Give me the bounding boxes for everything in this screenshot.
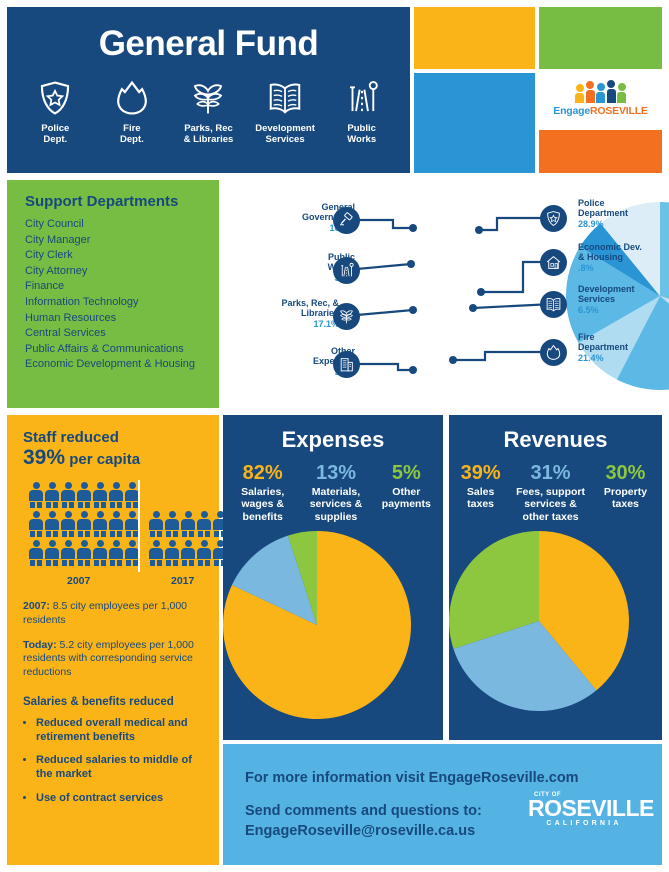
expenses-panel: Expenses 82%Salaries,wages &benefits13%M… — [223, 415, 443, 740]
police-badge-icon — [18, 77, 92, 117]
support-dept-item: Human Resources — [25, 311, 205, 327]
person-icon — [109, 482, 123, 508]
staff-reduction-panel: Staff reduced 39% per capita 2007 2017 2… — [7, 415, 219, 865]
legend-percent: 13% — [298, 463, 373, 484]
callout-percent: 28.9% — [578, 219, 628, 229]
header-band: General Fund PoliceDept.FireDept.Parks, … — [7, 7, 410, 173]
department-icon-row: PoliceDept.FireDept.Parks, Rec& Librarie… — [7, 77, 410, 146]
general-fund-pie-section: GeneralGovernment10.9%PublicWorks5.3%Par… — [223, 180, 662, 408]
panel-divider — [445, 415, 447, 740]
callout-line: Services — [578, 294, 635, 304]
person-icon — [61, 482, 75, 508]
staff-note-today: Today: 5.2 city employees per 1,000 resi… — [23, 639, 205, 680]
support-dept-item: Information Technology — [25, 295, 205, 311]
header-dept-5: PublicWorks — [325, 77, 399, 146]
legend-percent: 39% — [455, 463, 506, 484]
support-departments-panel: Support Departments City CouncilCity Man… — [7, 180, 219, 408]
person-icon — [93, 540, 107, 566]
expenses-title: Expenses — [223, 427, 443, 453]
callout-percent: .8% — [578, 263, 642, 273]
salaries-benefits-bullets: Reduced overall medical and retirement b… — [23, 716, 205, 805]
infographic-page: General Fund PoliceDept.FireDept.Parks, … — [0, 0, 669, 872]
callout-line: Fire — [578, 332, 628, 342]
open-book-icon — [248, 77, 322, 117]
person-icon — [125, 511, 139, 537]
person-icon — [45, 482, 59, 508]
revenues-panel: Revenues 39%Salestaxes31%Fees, supportse… — [449, 415, 662, 740]
legend-key: 31%Fees, supportservices &other taxes — [508, 463, 593, 523]
pie-callout-economic-dev-housing: Economic Dev.& Housing.8% — [578, 242, 642, 273]
swatch-green — [539, 7, 662, 69]
support-departments-heading: Support Departments — [25, 193, 205, 210]
support-dept-item: Finance — [25, 279, 205, 295]
revenues-legend: 39%Salestaxes31%Fees, supportservices &o… — [449, 463, 662, 523]
callout-line: Parks, Rec, & — [243, 298, 339, 308]
person-icon — [125, 540, 139, 566]
callout-dot — [407, 260, 415, 268]
flame-icon — [540, 339, 567, 366]
open-book-icon — [540, 291, 567, 318]
callout-percent: 6.5% — [578, 305, 635, 315]
staff-heading-line1: Staff reduced — [23, 429, 119, 446]
legend-label: Salestaxes — [455, 486, 506, 511]
legend-label: Otherpayments — [376, 486, 437, 511]
building-icon — [333, 351, 360, 378]
police-badge-icon — [540, 205, 567, 232]
swatch-blue — [414, 73, 535, 173]
person-icon — [181, 540, 195, 566]
staff-note-2007: 2007: 8.5 city employees per 1,000 resid… — [23, 600, 205, 627]
pie-callout-development-services: DevelopmentServices6.5% — [578, 284, 635, 315]
legend-label: Fees, supportservices &other taxes — [508, 486, 593, 523]
person-icon — [197, 511, 211, 537]
engage-roseville-logo: EngageROSEVILLE — [539, 73, 662, 126]
person-icon — [77, 511, 91, 537]
staff-note-2007-label: 2007: — [23, 600, 50, 612]
person-icon — [165, 540, 179, 566]
swatch-orange — [539, 130, 662, 173]
year-label-2017: 2017 — [171, 575, 194, 587]
support-dept-item: Central Services — [25, 326, 205, 342]
expenses-pie-chart — [223, 531, 411, 719]
revenues-title: Revenues — [449, 427, 662, 453]
people-group-icon — [575, 83, 626, 103]
legend-percent: 30% — [595, 463, 656, 484]
legend-key: 39%Salestaxes — [455, 463, 506, 523]
person-icon — [61, 511, 75, 537]
leaf-icon — [333, 303, 360, 330]
staff-bullet: Reduced salaries to middle of the market — [36, 753, 205, 782]
callout-percent: 21.4% — [578, 353, 628, 363]
legend-key: 5%Otherpayments — [376, 463, 437, 523]
staff-bullet: Use of contract services — [36, 791, 205, 805]
callout-line: Economic Dev. — [578, 242, 642, 252]
staff-heading-tail: per capita — [65, 451, 140, 468]
callout-dot — [477, 288, 485, 296]
person-icon — [29, 511, 43, 537]
person-icon — [149, 540, 163, 566]
person-icon — [77, 482, 91, 508]
pictogram-row — [29, 511, 139, 537]
pie-callout-parks-rec-libraries: Parks, Rec, &Libraries17.1% — [243, 298, 339, 329]
header-dept-label: PublicWorks — [325, 124, 399, 146]
swatch-yellow — [414, 7, 535, 69]
callout-line: & Housing — [578, 252, 642, 262]
callout-dot — [469, 304, 477, 312]
legend-label: Materials,services &supplies — [298, 486, 373, 523]
header-dept-2: FireDept. — [95, 77, 169, 146]
support-dept-item: Public Affairs & Communications — [25, 342, 205, 358]
header-dept-3: Parks, Rec& Libraries — [171, 77, 245, 146]
page-title: General Fund — [7, 24, 410, 64]
pie-callout-fire-department: FireDepartment21.4% — [578, 332, 628, 363]
support-dept-item: City Manager — [25, 233, 205, 249]
support-dept-item: City Council — [25, 217, 205, 233]
person-icon — [45, 540, 59, 566]
callout-percent: 17.1% — [243, 319, 339, 329]
legend-key: 82%Salaries,wages &benefits — [229, 463, 296, 523]
callout-dot — [475, 226, 483, 234]
staff-bullet: Reduced overall medical and retirement b… — [36, 716, 205, 745]
road-streetlight-icon — [333, 257, 360, 284]
staff-heading: Staff reduced 39% per capita — [23, 429, 205, 470]
staff-note-today-label: Today: — [23, 639, 57, 651]
person-icon — [93, 511, 107, 537]
legend-key: 13%Materials,services &supplies — [298, 463, 373, 523]
revenues-pie-chart — [449, 531, 629, 711]
person-icon — [149, 511, 163, 537]
legend-label: Salaries,wages &benefits — [229, 486, 296, 523]
legend-percent: 31% — [508, 463, 593, 484]
legend-key: 30%Propertytaxes — [595, 463, 656, 523]
callout-line: Libraries — [243, 308, 339, 318]
callout-line: Development — [578, 284, 635, 294]
person-icon — [45, 511, 59, 537]
person-icon — [109, 511, 123, 537]
pictogram-year-labels: 2007 2017 — [23, 575, 205, 589]
callout-leader — [453, 352, 553, 360]
support-dept-item: Economic Development & Housing — [25, 357, 205, 373]
support-dept-item: City Attorney — [25, 264, 205, 280]
person-icon — [165, 511, 179, 537]
person-icon — [61, 540, 75, 566]
header-dept-label: Parks, Rec& Libraries — [171, 124, 245, 146]
header-dept-4: DevelopmentServices — [248, 77, 322, 146]
salaries-benefits-heading: Salaries & benefits reduced — [23, 696, 205, 708]
callout-dot — [409, 306, 417, 314]
pictogram-divider — [138, 480, 140, 572]
footer-line-website[interactable]: For more information visit EngageRosevil… — [245, 768, 662, 788]
callout-line: Department — [578, 208, 628, 218]
pictogram-row — [29, 540, 139, 566]
leaf-icon — [171, 77, 245, 117]
support-departments-list: City CouncilCity ManagerCity ClerkCity A… — [25, 217, 205, 373]
house-icon — [540, 249, 567, 276]
year-label-2007: 2007 — [67, 575, 90, 587]
legend-percent: 82% — [229, 463, 296, 484]
logo-roseville-name: ROSEVILLE — [528, 798, 640, 820]
header-dept-label: DevelopmentServices — [248, 124, 322, 146]
callout-dot — [409, 224, 417, 232]
legend-percent: 5% — [376, 463, 437, 484]
person-icon — [125, 482, 139, 508]
person-icon — [93, 482, 107, 508]
gavel-icon — [333, 207, 360, 234]
callout-dot — [449, 356, 457, 364]
logo-roseville: ROSEVILLE — [590, 105, 648, 117]
person-icon — [29, 540, 43, 566]
header-dept-label: PoliceDept. — [18, 124, 92, 146]
pictogram-row — [29, 482, 139, 508]
callout-line: Police — [578, 198, 628, 208]
callout-dot — [409, 366, 417, 374]
staff-pictogram-chart — [23, 482, 205, 574]
road-streetlight-icon — [325, 77, 399, 117]
header-dept-1: PoliceDept. — [18, 77, 92, 146]
person-icon — [109, 540, 123, 566]
expenses-legend: 82%Salaries,wages &benefits13%Materials,… — [223, 463, 443, 523]
footer-contact-panel: For more information visit EngageRosevil… — [223, 744, 662, 865]
city-of-roseville-logo: CITY OF ROSEVILLE CALIFORNIA — [528, 792, 640, 827]
legend-label: Propertytaxes — [595, 486, 656, 511]
person-icon — [29, 482, 43, 508]
pie-callout-police-department: PoliceDepartment28.9% — [578, 198, 628, 229]
callout-line: Department — [578, 342, 628, 352]
support-dept-item: City Clerk — [25, 248, 205, 264]
logo-wordmark: EngageROSEVILLE — [553, 105, 647, 117]
person-icon — [197, 540, 211, 566]
person-icon — [181, 511, 195, 537]
logo-engage: Engage — [553, 105, 590, 117]
person-icon — [77, 540, 91, 566]
pictogram-group-2007 — [29, 482, 139, 569]
flame-icon — [95, 77, 169, 117]
header-dept-label: FireDept. — [95, 124, 169, 146]
staff-heading-percent: 39% — [23, 446, 65, 469]
